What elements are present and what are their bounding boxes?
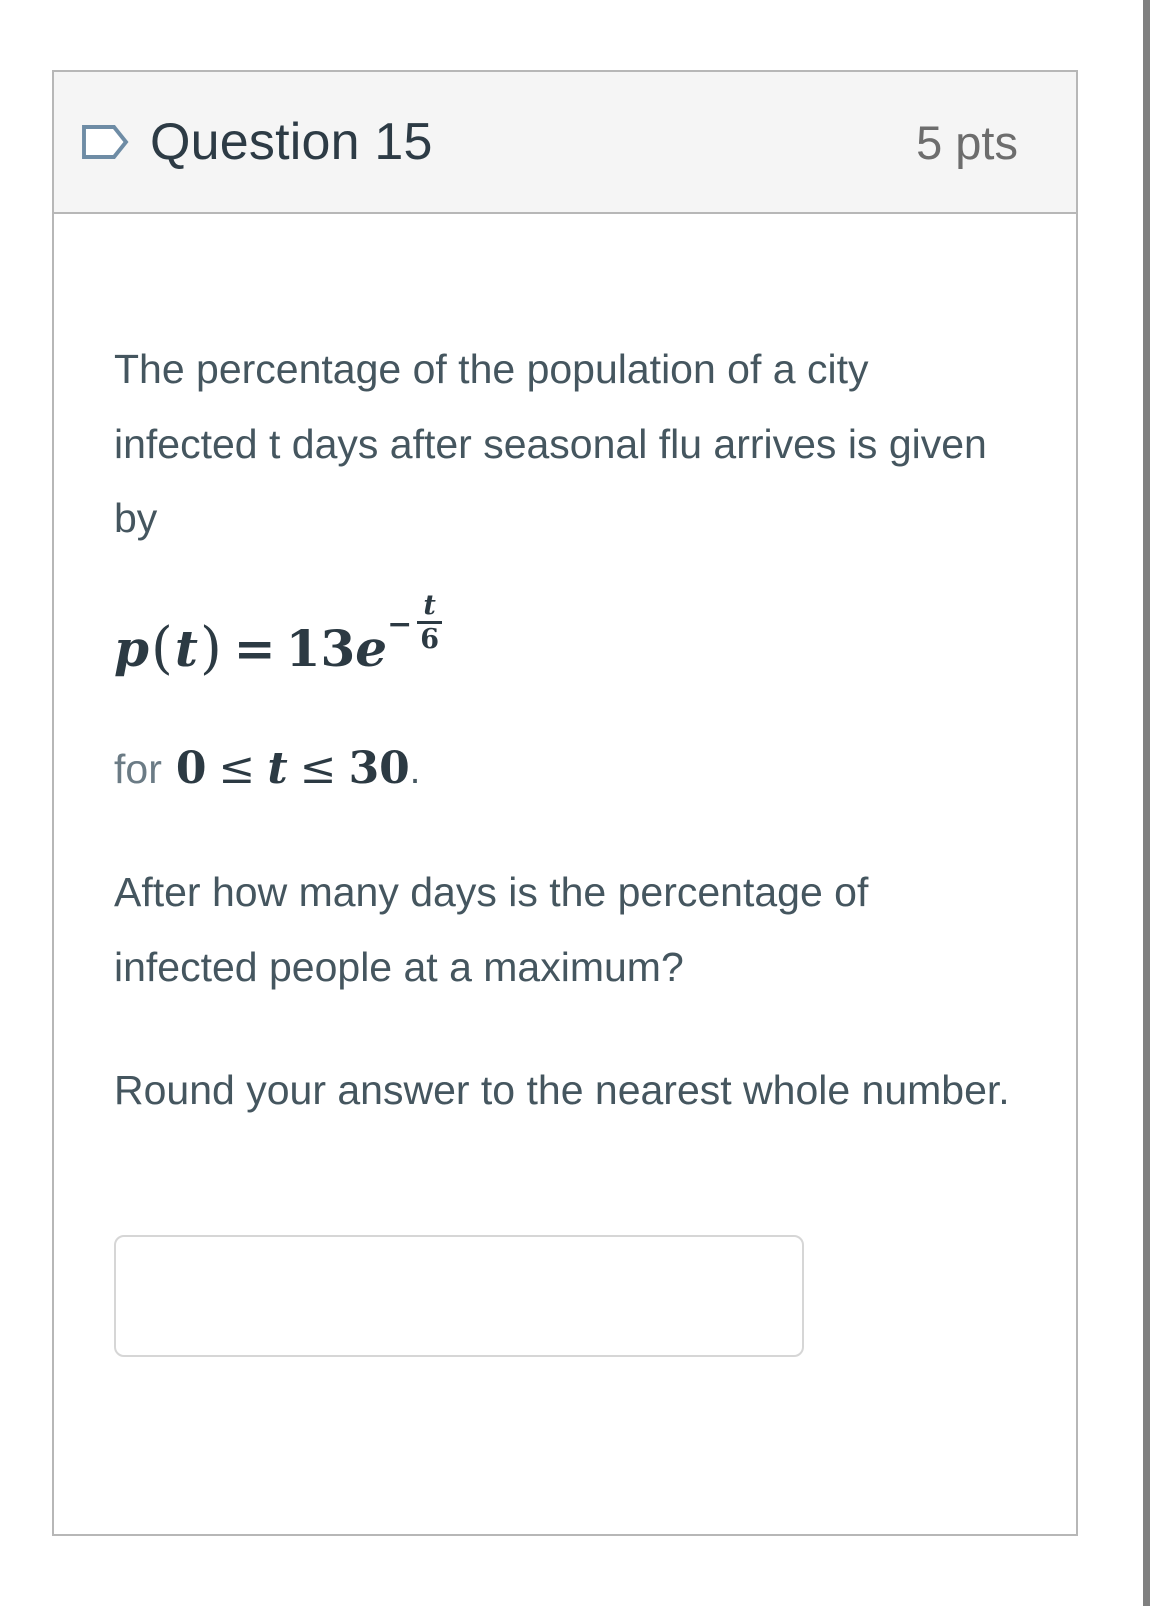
domain-relation-left: ≤ — [218, 743, 255, 794]
formula-exponent-numerator: t — [420, 592, 438, 621]
formula-close-paren: ) — [198, 616, 224, 681]
domain-lead-text: for — [114, 741, 162, 798]
formula-exponent: − t 6 — [387, 592, 442, 653]
quiz-question-page: Question 15 5 pts The percentage of the … — [0, 0, 1170, 1606]
formula-exponent-denominator: 6 — [417, 624, 442, 653]
question-paragraph-1: The percentage of the population of a ci… — [114, 332, 1016, 556]
page-title: Question 15 — [150, 116, 433, 168]
domain-lower-bound: 0 — [176, 743, 207, 794]
domain-variable: t — [267, 743, 287, 794]
question-paragraph-3: Round your answer to the nearest whole n… — [114, 1053, 1016, 1128]
domain-period: . — [410, 745, 421, 798]
formula-equals: = — [234, 619, 276, 678]
page-scrollbar-thumb[interactable] — [1143, 0, 1150, 1606]
question-body: The percentage of the population of a ci… — [54, 214, 1076, 1127]
formula-function-name: p — [114, 619, 149, 678]
domain-inequality: 0≤t≤30 — [176, 738, 410, 800]
question-header: Question 15 5 pts — [54, 72, 1076, 214]
domain-upper-bound: 30 — [349, 743, 410, 794]
answer-input[interactable] — [114, 1235, 804, 1357]
formula-variable: t — [175, 619, 198, 678]
formula-open-paren: ( — [149, 616, 175, 681]
points-badge: 5 pts — [916, 119, 1046, 166]
formula-base: e — [355, 619, 387, 678]
domain-line: for 0≤t≤30. — [114, 738, 1016, 800]
formula-coefficient: 13 — [286, 619, 356, 678]
domain-relation-right: ≤ — [300, 743, 337, 794]
formula-expression: p ( t ) = 13 e − t 6 — [114, 604, 1016, 694]
page-scrollbar-track[interactable] — [1143, 0, 1170, 1606]
question-paragraph-2: After how many days is the percentage of… — [114, 855, 1016, 1004]
question-card: Question 15 5 pts The percentage of the … — [52, 70, 1078, 1536]
question-flag-icon — [78, 115, 150, 169]
answer-area — [54, 1175, 1076, 1357]
formula-exponent-sign: − — [387, 607, 412, 642]
formula-exponent-fraction: t 6 — [417, 592, 442, 653]
